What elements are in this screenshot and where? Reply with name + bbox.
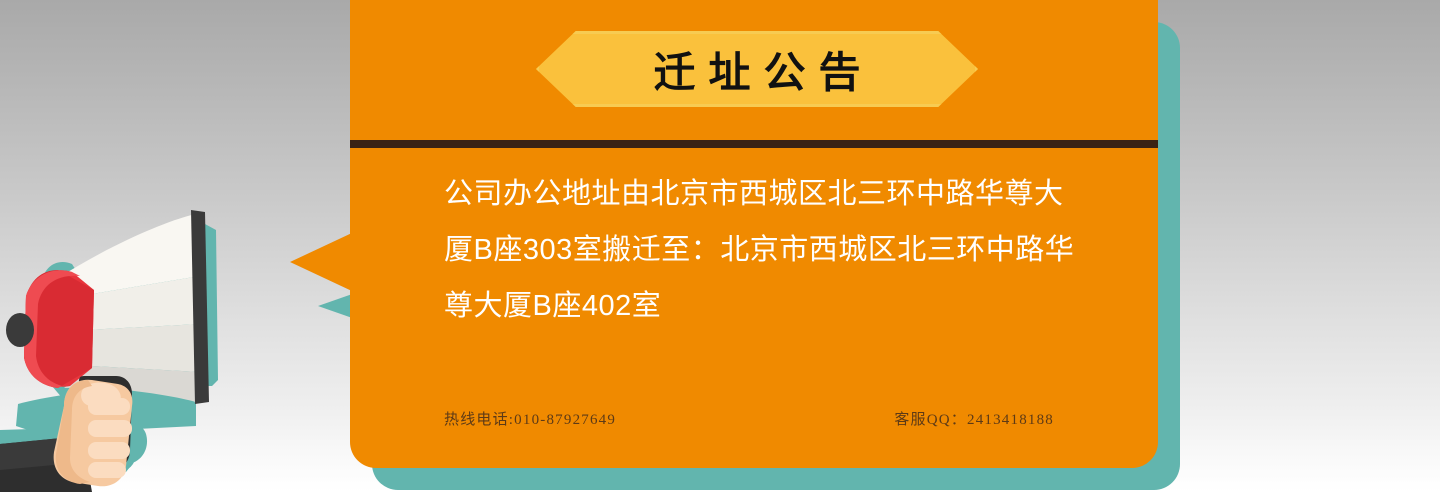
qq-text: 客服QQ：2413418188 — [894, 408, 1054, 429]
page-title: 迁址公告 — [536, 31, 978, 107]
megaphone-knob — [6, 313, 34, 347]
speech-tail — [290, 232, 354, 292]
announcement-body: 公司办公地址由北京市西城区北三环中路华尊大厦B座303室搬迁至：北京市西城区北三… — [444, 166, 1090, 334]
announcement-banner: 迁址公告 公司办公地址由北京市西城区北三环中路华尊大厦B座303室搬迁至：北京市… — [0, 0, 1440, 492]
header-divider — [350, 140, 1158, 148]
megaphone-svg — [0, 190, 300, 492]
hotline-text: 热线电话:010-87927649 — [444, 408, 616, 429]
megaphone-mouthpiece — [24, 270, 94, 388]
contact-footer: 热线电话:010-87927649 客服QQ：2413418188 — [444, 408, 1090, 429]
megaphone-illustration — [0, 190, 300, 492]
